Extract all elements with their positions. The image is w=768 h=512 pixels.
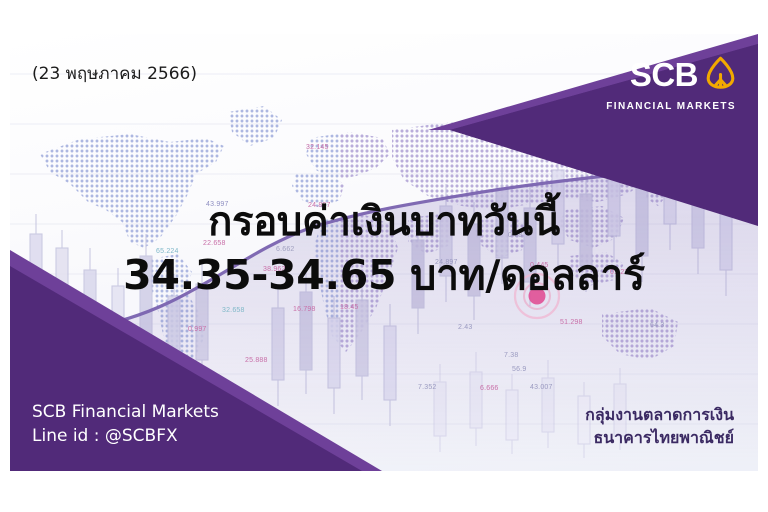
contact-name: SCB Financial Markets [32, 400, 219, 425]
scb-leaf-icon [705, 56, 736, 93]
contact-line-id: Line id : @SCBFX [32, 424, 219, 449]
org-division: กลุ่มงานตลาดการเงิน [585, 404, 734, 426]
banner-canvas: 32.14543.99724.89765.22438.96222.6580.08… [10, 34, 758, 471]
organization-block: กลุ่มงานตลาดการเงิน ธนาคารไทยพาณิชย์ [585, 404, 734, 449]
banner-root: 32.14543.99724.89765.22438.96222.6580.08… [0, 0, 768, 512]
org-bank-name: ธนาคารไทยพาณิชย์ [585, 427, 734, 449]
scb-logo-row: SCB [606, 56, 736, 93]
contact-block: SCB Financial Markets Line id : @SCBFX [32, 400, 219, 449]
scb-logo: SCB FINANCIAL MARKETS [606, 56, 736, 112]
scb-wordmark: SCB [630, 58, 698, 91]
date-label: (23 พฤษภาคม 2566) [32, 60, 197, 87]
scb-logo-subtitle: FINANCIAL MARKETS [606, 102, 736, 112]
